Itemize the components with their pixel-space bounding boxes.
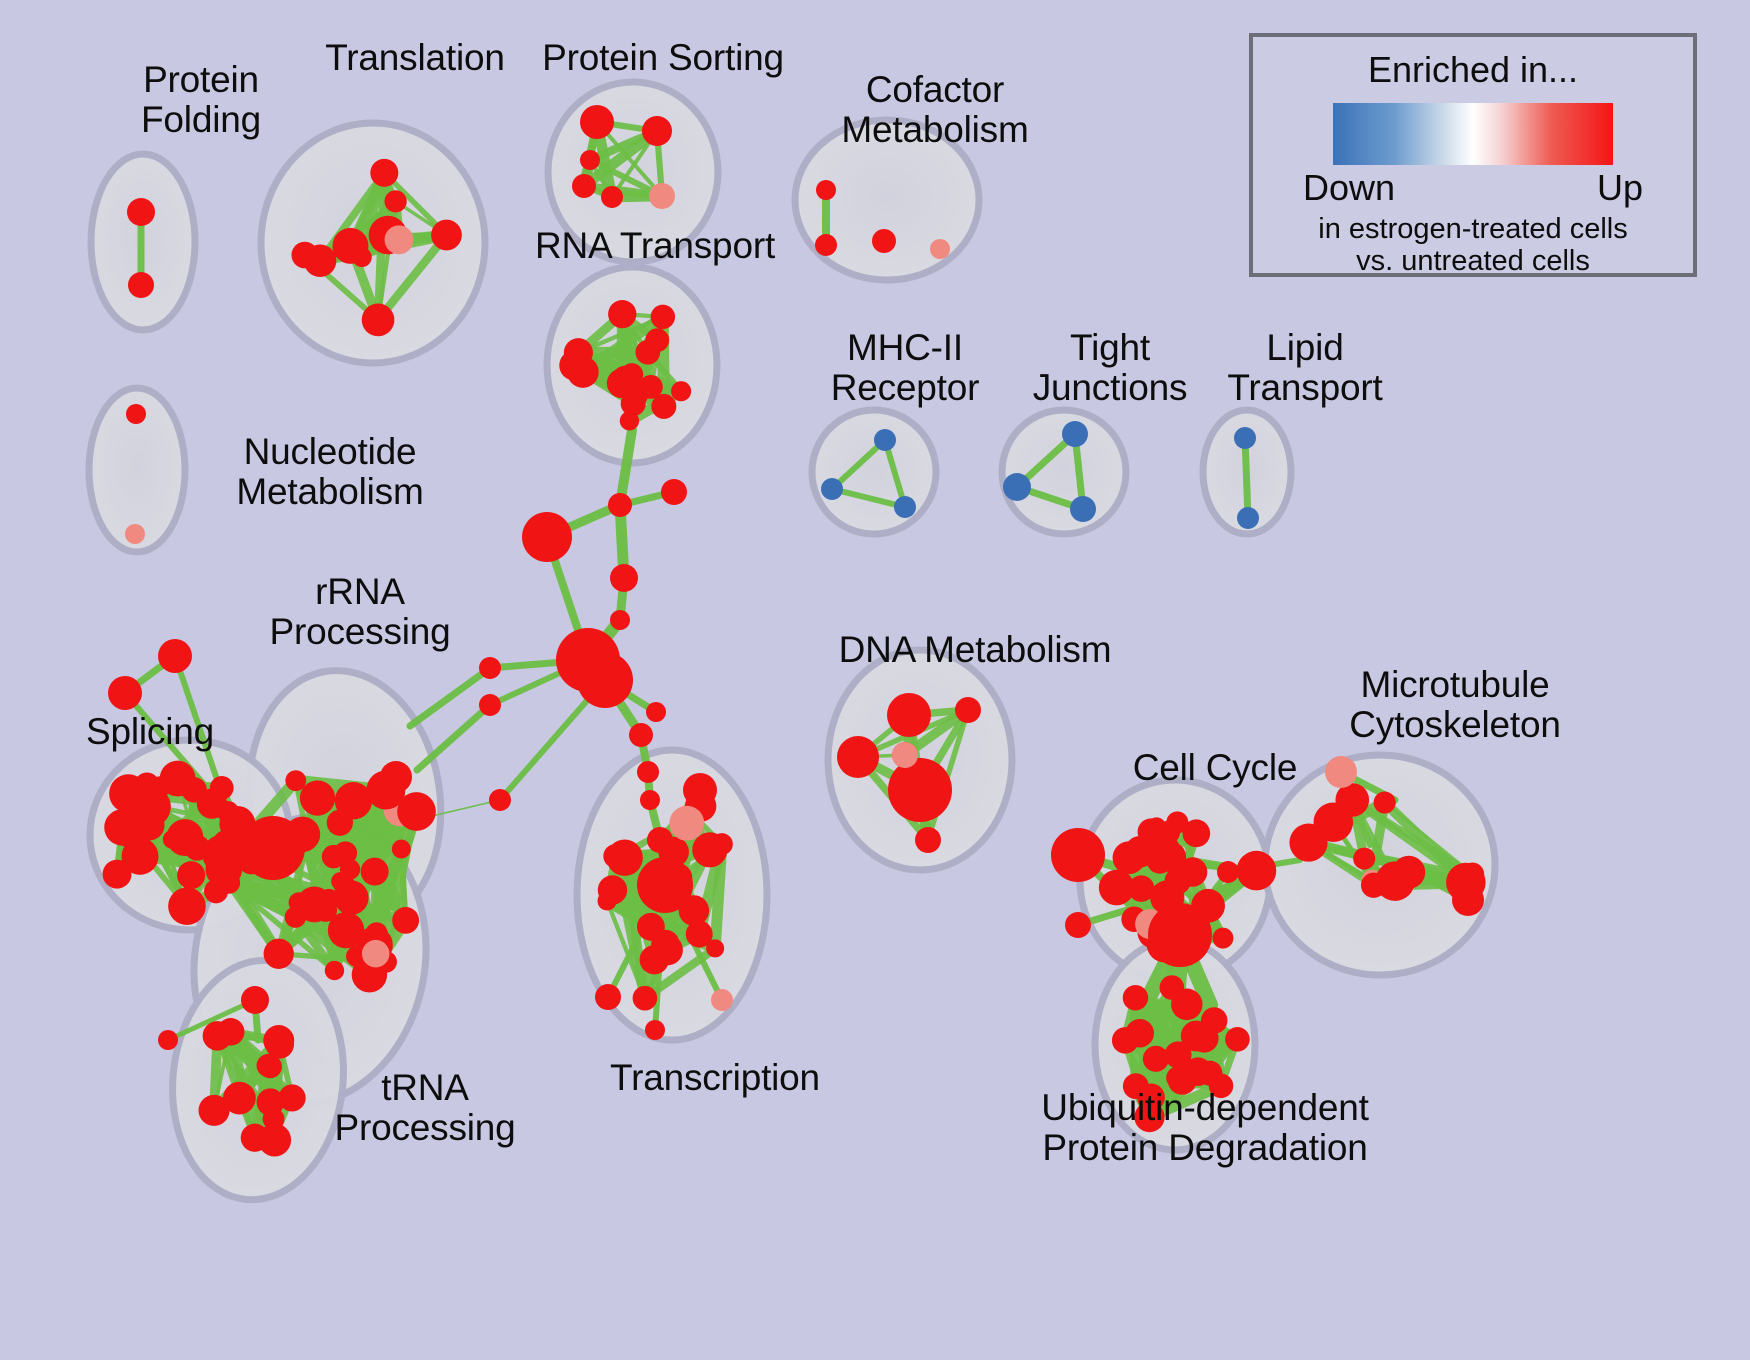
legend-up-label: Up xyxy=(1597,167,1643,209)
legend-title: Enriched in... xyxy=(1253,49,1693,91)
network-figure: Protein FoldingTranslationProtein Sortin… xyxy=(0,0,1750,1360)
legend-color-gradient xyxy=(1333,103,1613,165)
legend-down-label: Down xyxy=(1303,167,1395,209)
legend-endpoints: Down Up xyxy=(1303,167,1643,211)
legend-box: Enriched in... Down Up in estrogen-treat… xyxy=(1249,33,1697,277)
legend-caption: in estrogen-treated cells vs. untreated … xyxy=(1253,213,1693,278)
